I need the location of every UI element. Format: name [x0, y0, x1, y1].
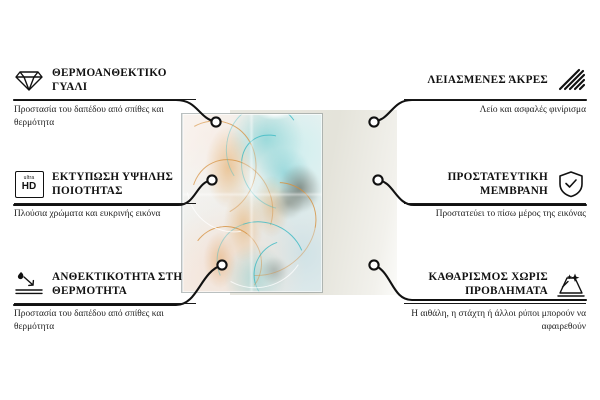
feature-heat-resistance: ΑΝΘΕΚΤΙΚΟΤΗΤΑ ΣΤΗ ΘΕΡΜΟΤΗΤΑ Προστασία το… [14, 268, 196, 333]
feature-protective-membrane: ΠΡΟΣΤΑΤΕΥΤΙΚΗ ΜΕΜΒΡΑΝΗ Προστατεύει το πί… [404, 168, 586, 221]
diamond-icon [14, 65, 44, 95]
feature-description: Πλούσια χρώματα και ευκρινής εικόνα [14, 208, 196, 221]
feature-title: ΚΑΘΑΡΙΣΜΟΣ ΧΩΡΙΣ ΠΡΟΒΛΗΜΑΤΑ [404, 270, 548, 299]
ultra-hd-badge: ultra HD [15, 171, 44, 198]
feature-title: ΕΚΤΥΠΩΣΗ ΥΨΗΛΗΣ ΠΟΙΟΤΗΤΑΣ [52, 170, 196, 199]
product-image-group [182, 110, 397, 295]
feature-description: Η αιθάλη, η στάχτη ή άλλοι ρύποι μπορούν… [404, 308, 586, 333]
feature-description: Λείο και ασφαλές φινίρισμα [404, 104, 586, 117]
feature-title: ΠΡΟΣΤΑΤΕΥΤΙΚΗ ΜΕΜΒΡΑΝΗ [404, 170, 548, 199]
ultra-hd-bottom-label: HD [22, 182, 36, 192]
feature-divider [14, 99, 196, 100]
glass-highlight [258, 114, 292, 120]
product-glass-panel [182, 114, 322, 292]
feature-polished-edges: ΛΕΙΑΣΜΕΝΕΣ ΆΚΡΕΣ Λείο και ασφαλές φινίρι… [404, 64, 586, 117]
feature-divider [14, 203, 196, 204]
feature-header: ΘΕΡΜΟΑΝΘΕΚΤΙΚΟ ΓΥΑΛΙ [14, 64, 196, 96]
feature-header: ultra HD ΕΚΤΥΠΩΣΗ ΥΨΗΛΗΣ ΠΟΙΟΤΗΤΑΣ [14, 168, 196, 200]
feature-header: ΑΝΘΕΚΤΙΚΟΤΗΤΑ ΣΤΗ ΘΕΡΜΟΤΗΤΑ [14, 268, 196, 300]
feature-header: ΛΕΙΑΣΜΕΝΕΣ ΆΚΡΕΣ [404, 64, 586, 96]
feature-divider [404, 99, 586, 100]
glass-reflection-horizontal [182, 192, 322, 197]
feature-title: ΘΕΡΜΟΑΝΘΕΚΤΙΚΟ ΓΥΑΛΙ [52, 66, 196, 95]
glass-reflection-vertical [249, 114, 254, 292]
feature-divider [14, 303, 196, 304]
feature-divider [404, 303, 586, 304]
feature-header: ΠΡΟΣΤΑΤΕΥΤΙΚΗ ΜΕΜΒΡΑΝΗ [404, 168, 586, 200]
infographic-canvas: ΘΕΡΜΟΑΝΘΕΚΤΙΚΟ ΓΥΑΛΙ Προστασία του δαπέδ… [0, 0, 600, 400]
feature-description: Προστασία του δαπέδου από σπίθες και θερ… [14, 308, 196, 333]
ultra-hd-icon: ultra HD [14, 169, 44, 199]
heat-resistance-icon [14, 269, 44, 299]
easy-clean-icon [556, 269, 586, 299]
feature-description: Προστασία του δαπέδου από σπίθες και θερ… [14, 104, 196, 129]
feature-divider [404, 203, 586, 204]
shield-check-icon [556, 169, 586, 199]
feature-title: ΛΕΙΑΣΜΕΝΕΣ ΆΚΡΕΣ [404, 73, 548, 87]
feature-description: Προστατεύει το πίσω μέρος της εικόνας [404, 208, 586, 221]
feature-title: ΑΝΘΕΚΤΙΚΟΤΗΤΑ ΣΤΗ ΘΕΡΜΟΤΗΤΑ [52, 270, 196, 299]
feature-header: ΚΑΘΑΡΙΣΜΟΣ ΧΩΡΙΣ ΠΡΟΒΛΗΜΑΤΑ [404, 268, 586, 300]
polished-edges-icon [556, 65, 586, 95]
feature-high-quality-print: ultra HD ΕΚΤΥΠΩΣΗ ΥΨΗΛΗΣ ΠΟΙΟΤΗΤΑΣ Πλούσ… [14, 168, 196, 221]
feature-heat-resistant-glass: ΘΕΡΜΟΑΝΘΕΚΤΙΚΟ ΓΥΑΛΙ Προστασία του δαπέδ… [14, 64, 196, 129]
feature-easy-cleaning: ΚΑΘΑΡΙΣΜΟΣ ΧΩΡΙΣ ΠΡΟΒΛΗΜΑΤΑ Η αιθάλη, η … [404, 268, 586, 333]
